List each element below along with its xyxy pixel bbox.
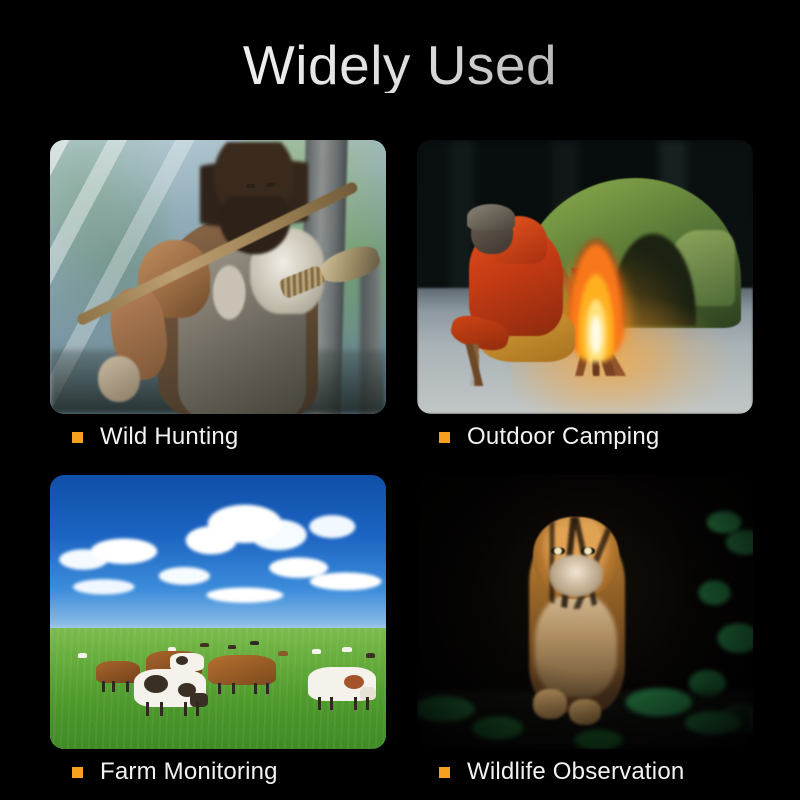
cow-head (190, 693, 208, 707)
cumulus-clouds (50, 491, 386, 628)
hunter-hand (98, 356, 140, 402)
caption-wildlife-observation: Wildlife Observation (417, 749, 753, 795)
square-bullet-icon (72, 432, 83, 443)
square-bullet-icon (72, 767, 83, 778)
cow-leg (196, 702, 199, 716)
use-case-card-outdoor-camping[interactable]: Outdoor Camping (417, 140, 753, 460)
livestock-distant (200, 643, 209, 647)
hunter-eye-right (266, 183, 275, 187)
cow (308, 667, 376, 701)
cow-leg (146, 702, 149, 716)
caption-farm-monitoring: Farm Monitoring (50, 749, 386, 795)
cow-leg (160, 702, 163, 716)
livestock-distant (342, 647, 352, 652)
use-case-grid: Wild Hunting Outdoor Camping (50, 140, 753, 780)
firewood-pile (423, 344, 533, 386)
cow-leg (366, 697, 369, 710)
livestock-distant (278, 651, 288, 656)
use-case-card-wildlife-observation[interactable]: Wildlife Observation (417, 475, 753, 795)
caption-label: Wild Hunting (100, 423, 238, 451)
square-bullet-icon (439, 432, 450, 443)
livestock-distant (312, 649, 321, 654)
horse (208, 655, 276, 685)
cow-leg (330, 697, 333, 710)
cow (134, 669, 206, 707)
photo-farm-monitoring (50, 475, 386, 749)
square-bullet-icon (439, 767, 450, 778)
cow-leg (184, 702, 187, 716)
camper-beanie (467, 204, 515, 230)
caption-wild-hunting: Wild Hunting (50, 414, 386, 460)
caption-label: Farm Monitoring (100, 758, 278, 786)
photo-outdoor-camping (417, 140, 753, 414)
horse-leg (218, 683, 221, 694)
cow-leg (318, 697, 321, 710)
horse-leg (266, 683, 269, 694)
use-case-card-farm-monitoring[interactable]: Farm Monitoring (50, 475, 386, 795)
livestock-distant (366, 653, 375, 658)
caption-label: Wildlife Observation (467, 758, 684, 786)
caption-outdoor-camping: Outdoor Camping (417, 414, 753, 460)
horse-leg (112, 681, 115, 692)
horse-leg (232, 683, 235, 694)
use-case-card-wild-hunting[interactable]: Wild Hunting (50, 140, 386, 460)
photo-wild-hunting (50, 140, 386, 414)
page-title: Widely Used (0, 38, 800, 93)
livestock-distant (228, 645, 236, 649)
caption-label: Outdoor Camping (467, 423, 659, 451)
livestock-distant (250, 641, 259, 645)
horse-leg (254, 683, 257, 694)
cow (170, 653, 204, 671)
cow-leg (354, 697, 357, 710)
cow-patch (144, 675, 168, 693)
horse-leg (126, 681, 129, 692)
cow-patch (176, 656, 188, 665)
horse-leg (102, 681, 105, 692)
hunter-eye-left (246, 184, 255, 188)
night-vignette (417, 475, 753, 749)
photo-wildlife-observation (417, 475, 753, 749)
livestock-distant (78, 653, 87, 658)
